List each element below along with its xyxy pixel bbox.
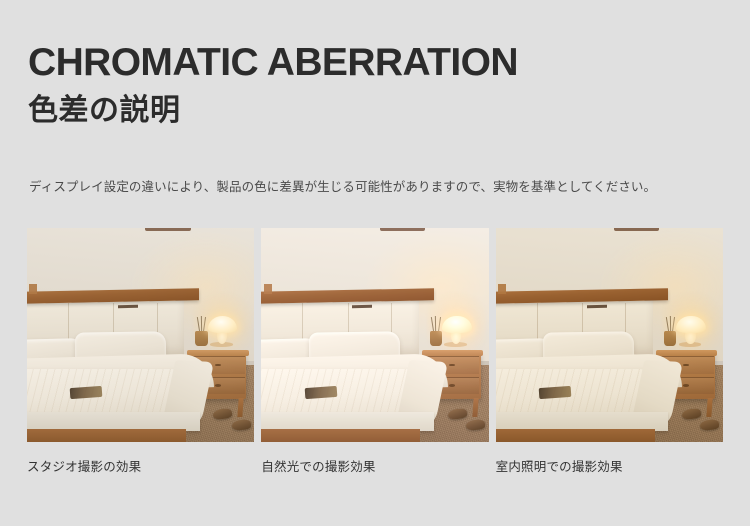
image-gallery [27,228,723,442]
rail-nub [29,284,37,295]
ceiling-strip [145,228,190,231]
bed-frame [261,429,420,442]
drawer-knob-icon [449,384,455,387]
reed-diffuser [430,331,443,346]
caption-image-3: 室内照明での撮影効果 [496,458,723,480]
drawer-knob-icon [449,364,455,367]
diffuser-stick [670,316,671,331]
drawer-knob-icon [683,384,689,387]
rail-nub [498,284,506,295]
drawer-knob-icon [215,364,221,367]
page-subtitle: 色差の説明 [28,92,728,130]
caption-image-2: 自然光での撮影効果 [261,458,488,480]
nightstand-top [656,350,717,356]
headboard-post [416,290,425,356]
bedroom-scene-studio [27,228,254,442]
headboard-post [182,290,191,356]
page-header: CHROMATIC ABERRATION 色差の説明 [28,42,728,130]
rail-notch [118,305,138,309]
headboard-post [650,290,659,356]
bed-frame [496,429,655,442]
caption-image-1: スタジオ撮影の効果 [27,458,254,480]
bedroom-scene-indoor [496,228,723,442]
nightstand-top [422,350,483,356]
page-title: CHROMATIC ABERRATION [28,42,728,84]
gallery-image-1[interactable] [27,228,254,442]
bed-frame [27,429,186,442]
gallery-image-3[interactable] [496,228,723,442]
rail-notch [352,305,372,309]
rail-notch [587,305,607,309]
caption-row: スタジオ撮影の効果 自然光での撮影効果 室内照明での撮影効果 [27,458,723,480]
mushroom-lamp-shade [442,316,472,333]
drawer-knob-icon [683,364,689,367]
gallery-image-2[interactable] [261,228,488,442]
product-color-disclaimer-page: CHROMATIC ABERRATION 色差の説明 ディスプレイ設定の違いによ… [0,0,750,526]
nightstand-leg [472,398,478,417]
ceiling-strip [614,228,659,231]
ceiling-strip [380,228,425,231]
bedroom-scene-natural [261,228,488,442]
disclaimer-text: ディスプレイ設定の違いにより、製品の色に差異が生じる可能性がありますので、実物を… [29,178,741,196]
drawer-knob-icon [215,384,221,387]
reed-diffuser [195,331,208,346]
reed-diffuser [664,331,677,346]
nightstand-top [187,350,248,356]
rail-nub [264,284,272,295]
